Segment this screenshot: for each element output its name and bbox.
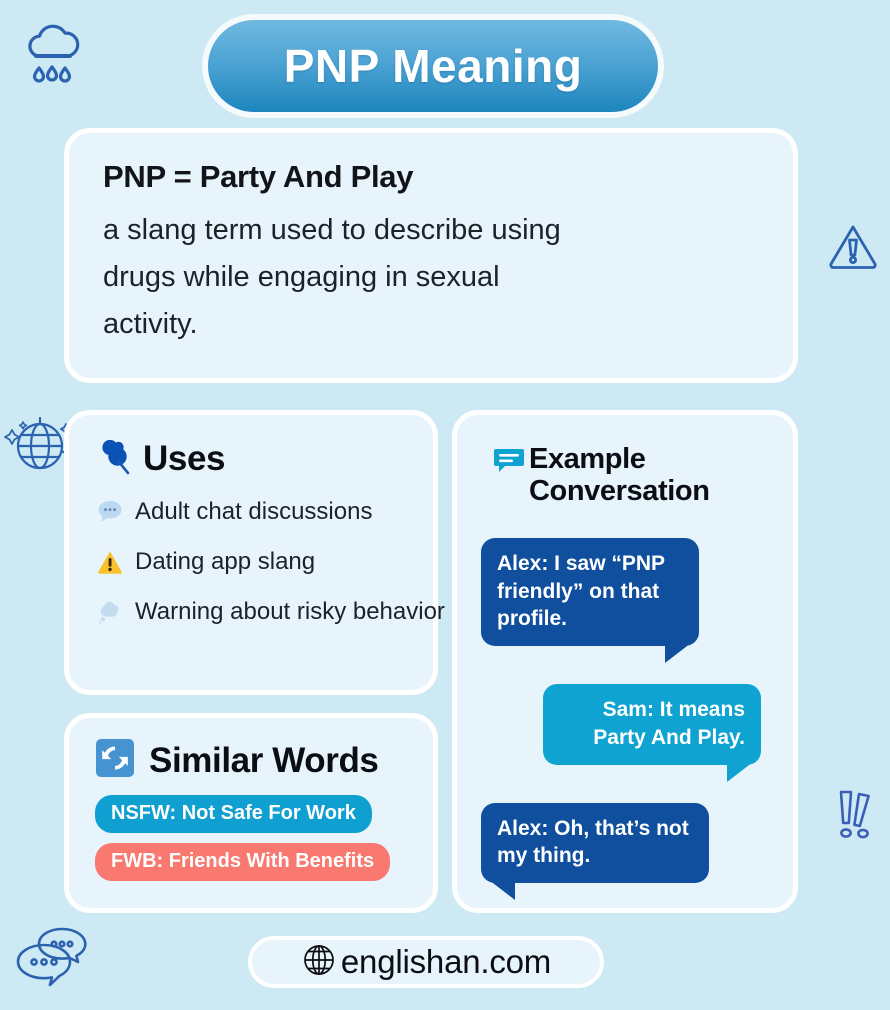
refresh-icon bbox=[95, 738, 135, 783]
chat-bubbles-icon bbox=[16, 925, 100, 989]
pushpin-icon bbox=[97, 437, 133, 480]
similar-words-card-header: Similar Words bbox=[95, 738, 409, 783]
speech-balloon-icon bbox=[97, 499, 123, 525]
chat-bubble: Alex: Oh, that’s not my thing. bbox=[481, 803, 709, 883]
chat-balloon-icon bbox=[493, 445, 525, 482]
list-item: Warning about risky behavior bbox=[97, 598, 409, 626]
list-item: Dating app slang bbox=[97, 548, 409, 576]
chat-bubble-tail bbox=[665, 643, 691, 663]
similar-words-card: Similar Words NSFW: Not Safe For Work FW… bbox=[64, 713, 438, 913]
chat-bubble-text: Sam: It means Party And Play. bbox=[593, 698, 745, 749]
chat-bubble-text: Alex: Oh, that’s not my thing. bbox=[497, 817, 689, 868]
page-title: PNP Meaning bbox=[284, 39, 583, 93]
definition-term: PNP = Party And Play bbox=[103, 159, 759, 195]
footer-website-pill[interactable]: englishan.com bbox=[248, 936, 604, 988]
example-conversation-card: Example Conversation Alex: I saw “PNP fr… bbox=[452, 410, 798, 913]
thought-balloon-icon bbox=[97, 599, 123, 625]
rain-cloud-icon bbox=[22, 22, 84, 92]
chat-bubble-tail bbox=[489, 880, 515, 900]
warning-triangle-icon bbox=[97, 549, 123, 575]
footer-website-text: englishan.com bbox=[341, 943, 551, 981]
uses-heading: Uses bbox=[143, 439, 225, 479]
warning-triangle-outline-icon bbox=[828, 222, 878, 270]
chat-bubble: Sam: It means Party And Play. bbox=[543, 684, 761, 764]
conversation-card-header: Example Conversation bbox=[493, 443, 771, 508]
similar-word-pill[interactable]: FWB: Friends With Benefits bbox=[95, 843, 390, 881]
definition-body: a slang term used to describe using drug… bbox=[103, 207, 583, 348]
chat-bubble-tail bbox=[727, 762, 753, 782]
double-exclamation-icon bbox=[836, 788, 878, 842]
definition-card: PNP = Party And Play a slang term used t… bbox=[64, 128, 798, 383]
list-item-label: Adult chat discussions bbox=[135, 498, 372, 526]
globe-icon bbox=[301, 942, 337, 983]
conversation-heading: Example Conversation bbox=[529, 443, 771, 508]
chat-bubble-text: Alex: I saw “PNP friendly” on that profi… bbox=[497, 552, 665, 630]
similar-word-pill[interactable]: NSFW: Not Safe For Work bbox=[95, 795, 372, 833]
similar-words-pill-list: NSFW: Not Safe For Work FWB: Friends Wit… bbox=[95, 795, 409, 891]
uses-card-header: Uses bbox=[97, 437, 409, 480]
uses-list: Adult chat discussions Dating app slang bbox=[97, 498, 409, 626]
list-item: Adult chat discussions bbox=[97, 498, 409, 526]
conversation-bubble-list: Alex: I saw “PNP friendly” on that profi… bbox=[479, 538, 771, 883]
list-item-label: Warning about risky behavior bbox=[135, 598, 445, 626]
chat-bubble: Alex: I saw “PNP friendly” on that profi… bbox=[481, 538, 699, 646]
similar-words-heading: Similar Words bbox=[149, 741, 379, 781]
list-item-label: Dating app slang bbox=[135, 548, 315, 576]
uses-card: Uses Adult chat discussions bbox=[64, 410, 438, 695]
page-title-banner: PNP Meaning bbox=[208, 20, 658, 112]
